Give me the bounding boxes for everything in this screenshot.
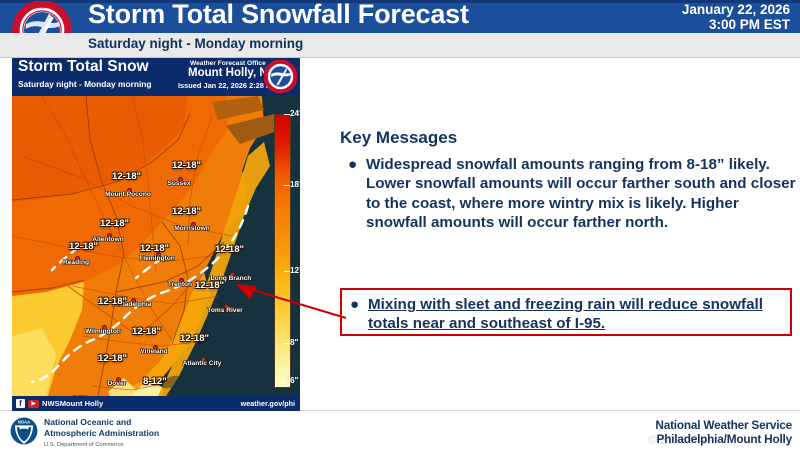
snow-amount-label: 12-18" [195,280,224,291]
snow-amount-label: 12-18" [100,218,129,229]
page-title: Storm Total Snowfall Forecast [88,0,469,30]
snow-amount-label: 12-18" [180,333,209,344]
header-datetime: January 22, 2026 3:00 PM EST [682,2,790,32]
nws-footer-line-1: National Weather Service [655,419,792,433]
snow-amount-label: 12-18" [172,160,201,171]
bullet-dot-icon: ● [348,155,357,174]
city-label: Vineland [124,348,184,355]
city-label: Sussex [149,180,209,187]
noaa-department: U.S. Department of Commerce [44,440,159,451]
key-message-bullet-1-text: Widespread snowfall amounts ranging from… [366,155,796,233]
colorbar-gradient [274,114,291,388]
snow-amount-label: 8-12" [143,376,167,387]
snow-amount-label: 12-18" [132,326,161,337]
snowfall-map-panel: SussexMount PoconoAllentownReadingMorris… [12,58,300,411]
noaa-agency-text: National Oceanic and Atmospheric Adminis… [44,417,159,451]
city-label: Wilmington [73,328,133,335]
snow-amount-label: 12-18" [215,244,244,255]
city-label: Morristown [162,225,222,232]
key-message-bullet-1: ● Widespread snowfall amounts ranging fr… [348,155,796,233]
colorbar-tick-18: 18" [290,180,300,189]
social-handle: NWSMount Holly [42,399,103,408]
snow-amount-label: 12-18" [98,353,127,364]
nws-office-footer: National Weather Service Philadelphia/Mo… [655,419,792,446]
colorbar-legend: Snow Amount (in) 24" 18" 12" 8" 6" [266,106,300,396]
snow-amount-label: 12-18" [172,206,201,217]
map-office: Mount Holly, NJ [188,67,274,79]
snow-amount-label: 12-18" [69,241,98,252]
noaa-line-1: National Oceanic and [44,417,131,427]
colorbar-tick-24: 24" [290,109,300,118]
youtube-icon[interactable]: ▶ [28,400,39,408]
header-date: January 22, 2026 [682,2,790,17]
map-wfo-label: Weather Forecast Office [190,60,266,67]
city-label: Flemington [127,255,187,262]
colorbar-title: Snow Amount (in) [300,153,301,263]
key-message-callout-box: ● Mixing with sleet and freezing rain wi… [340,288,792,336]
snow-amount-label: 12-18" [112,171,141,182]
colorbar-tick-6: 6" [290,376,298,385]
red-arrow-icon [228,278,348,326]
city-label: Reading [46,259,106,266]
key-message-bullet-2: ● Mixing with sleet and freezing rain wi… [350,295,782,334]
svg-text:NATIONAL: NATIONAL [30,5,55,11]
map-canvas: SussexMount PoconoAllentownReadingMorris… [12,96,300,396]
svg-text:NOAA: NOAA [18,420,30,425]
city-label: Mount Pocono [98,191,158,198]
map-nws-seal-icon [264,60,297,93]
snow-amount-label: 12-18" [98,296,127,307]
colorbar-tick-12: 12" [290,266,300,275]
map-subtitle: Saturday night - Monday morning [18,79,152,89]
bullet-dot-icon: ● [350,295,359,314]
subheader-text: Saturday night - Monday morning [88,36,303,51]
noaa-seal-icon: NOAA [10,417,38,445]
map-footer-bar: f ▶ NWSMount Holly weather.gov/phi [12,396,300,411]
snow-amount-label: 12-18" [140,243,169,254]
city-label: Dover [87,380,147,387]
map-title: Storm Total Snow [18,58,149,76]
key-messages-heading: Key Messages [340,128,457,148]
header-time: 3:00 PM EST [682,17,790,32]
nws-footer-line-2: Philadelphia/Mount Holly [655,433,792,447]
key-message-bullet-2-text: Mixing with sleet and freezing rain will… [368,295,782,334]
map-url[interactable]: weather.gov/phi [241,399,295,408]
colorbar-tick-8: 8" [290,338,298,347]
bottom-banner: NOAA National Oceanic and Atmospheric Ad… [0,410,800,450]
noaa-line-2: Atmospheric Administration [44,428,159,438]
facebook-icon[interactable]: f [16,399,25,408]
city-label: Atlantic City [172,360,232,367]
